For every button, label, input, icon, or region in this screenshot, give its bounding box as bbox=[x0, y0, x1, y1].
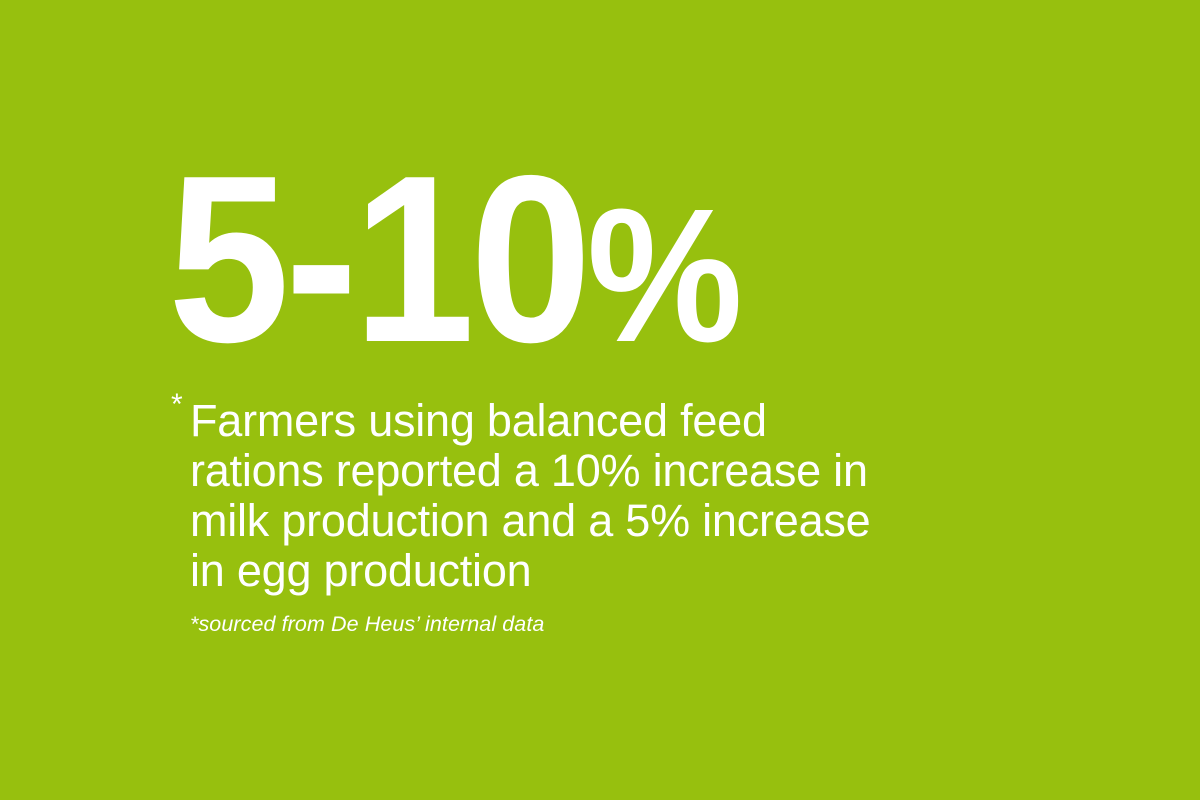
statement-text: *Farmers using balanced feed rations rep… bbox=[190, 396, 1150, 596]
statement-line-1: *Farmers using balanced feed bbox=[190, 396, 1150, 446]
content-block: 5-10% *Farmers using balanced feed ratio… bbox=[168, 160, 1168, 368]
headline-figure: 5-10% bbox=[168, 160, 1088, 368]
statement-line-2-text: rations reported a 10% increase in bbox=[190, 445, 868, 496]
asterisk-marker: * bbox=[171, 390, 182, 420]
headline-value: 5-10 bbox=[168, 127, 587, 392]
statement-line-1-text: Farmers using balanced feed bbox=[190, 395, 767, 446]
stat-card: 5-10% *Farmers using balanced feed ratio… bbox=[0, 0, 1200, 800]
statement-line-3: milk production and a 5% increase bbox=[190, 496, 1150, 546]
statement-line-4: in egg production bbox=[190, 546, 1150, 596]
statement-line-4-text: in egg production bbox=[190, 545, 531, 596]
source-footnote: *sourced from De Heus’ internal data bbox=[190, 612, 544, 638]
headline-percent-symbol: % bbox=[587, 197, 739, 357]
statement-line-3-text: milk production and a 5% increase bbox=[190, 495, 870, 546]
statement-line-2: rations reported a 10% increase in bbox=[190, 446, 1150, 496]
